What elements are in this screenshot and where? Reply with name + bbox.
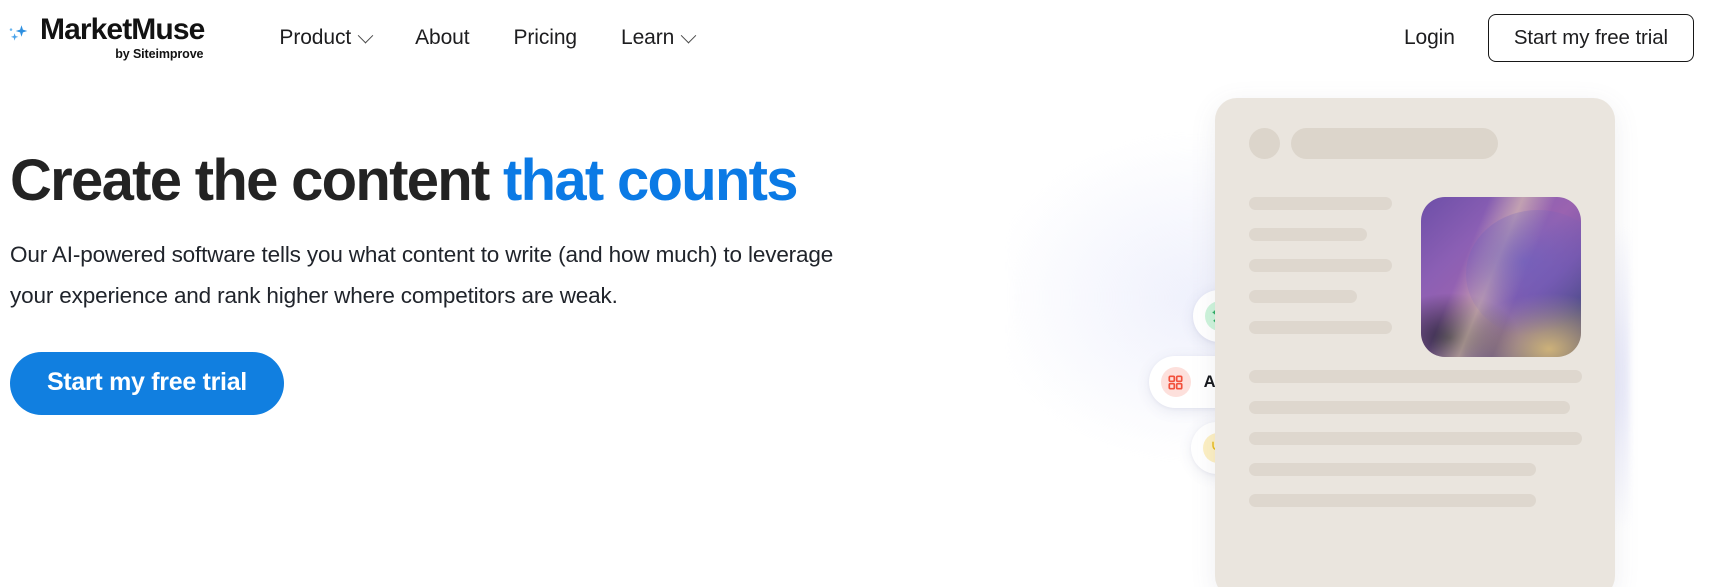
hero-title-accent: that counts <box>503 148 797 213</box>
chevron-down-icon <box>681 27 697 43</box>
doc-text-line <box>1249 401 1570 414</box>
hero-copy: Create the content that counts Our AI-po… <box>10 150 910 415</box>
header-start-trial-button[interactable]: Start my free trial <box>1488 14 1694 63</box>
doc-text-line <box>1249 259 1392 272</box>
hero-illustration: OPTIMIZE X-RAY SERP <box>1010 0 1724 587</box>
doc-text-line <box>1249 370 1582 383</box>
doc-text-line <box>1249 321 1392 334</box>
doc-thumbnail-image <box>1421 197 1581 357</box>
landing-page: MarketMuse by Siteimprove Product About … <box>0 0 1724 587</box>
header-actions: Login Start my free trial <box>1404 14 1694 63</box>
nav-item-label: Pricing <box>513 26 577 50</box>
nav-item-about[interactable]: About <box>393 18 491 58</box>
hero-title-plain: Create the content <box>10 148 503 213</box>
doc-text-line <box>1249 432 1582 445</box>
avatar <box>1249 128 1280 159</box>
nav-item-product[interactable]: Product <box>257 18 393 58</box>
nav-item-label: Learn <box>621 26 674 50</box>
sparkle-icon <box>8 23 34 49</box>
nav-item-learn[interactable]: Learn <box>599 18 716 58</box>
hero-subtitle: Our AI-powered software tells you what c… <box>10 235 872 315</box>
page-title: Create the content that counts <box>10 150 910 211</box>
main-nav: Product About Pricing Learn <box>257 18 716 58</box>
doc-text-line <box>1249 228 1367 241</box>
brand-text: MarketMuse by Siteimprove <box>40 15 204 61</box>
login-link[interactable]: Login <box>1404 26 1455 50</box>
nav-item-label: About <box>415 26 469 50</box>
doc-title-placeholder <box>1291 128 1498 159</box>
doc-body <box>1249 197 1581 507</box>
doc-text-line <box>1249 197 1392 210</box>
doc-text-line <box>1249 290 1357 303</box>
brand-name: MarketMuse <box>40 15 204 45</box>
doc-text-line <box>1249 494 1536 507</box>
grid-icon <box>1161 367 1191 397</box>
nav-item-label: Product <box>279 26 351 50</box>
brand-logo[interactable]: MarketMuse by Siteimprove <box>8 15 204 61</box>
chevron-down-icon <box>358 27 374 43</box>
nav-item-pricing[interactable]: Pricing <box>491 18 599 58</box>
brand-subtitle: by Siteimprove <box>115 48 203 61</box>
article-preview-card <box>1215 98 1615 587</box>
doc-header <box>1249 128 1581 159</box>
hero-start-trial-button[interactable]: Start my free trial <box>10 352 284 416</box>
doc-text-line <box>1249 463 1536 476</box>
site-header: MarketMuse by Siteimprove Product About … <box>0 0 1724 76</box>
